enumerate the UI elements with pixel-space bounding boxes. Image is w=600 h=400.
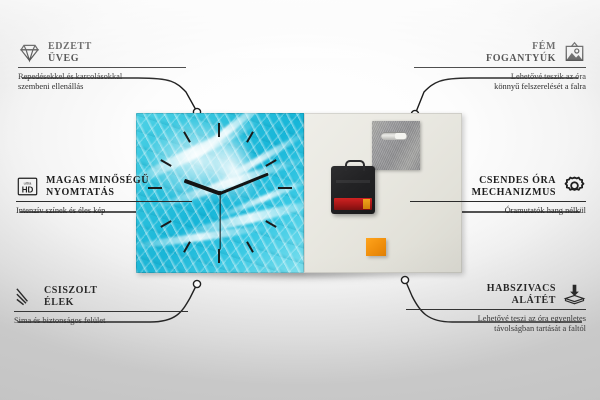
callout-rule [406,309,586,310]
callout-title: FÉM FOGANTYÚK [486,41,556,64]
foam-pad-arrow-icon [563,283,586,306]
callout-metal-handles[interactable]: FÉM FOGANTYÚK Lehetővé teszik az óra kön… [414,41,586,93]
polished-edges-icon [14,285,37,308]
callout-header: EDZETT ÜVEG [18,41,186,64]
callout-header: CSENDES ÓRA MECHANIZMUS [410,175,586,198]
hanger-keyhole-slot [381,132,407,140]
callout-rule [414,67,586,68]
callout-description: Intenzív színek és éles kép [16,206,192,216]
clock-tick [218,249,220,263]
battery [334,198,372,210]
callout-description: Lehetővé teszik az óra könnyű felszerelé… [414,72,586,93]
metal-hanger-part [372,121,420,170]
callout-title: EDZETT ÜVEG [48,41,92,64]
callout-description: Sima és biztonságos felület [14,316,188,326]
clock-second-hand [219,194,220,250]
svg-text:HD: HD [22,185,34,194]
clock-tick [160,220,171,228]
callout-tempered-glass[interactable]: EDZETT ÜVEG Repedésekkel és karcolásokka… [18,41,186,93]
callout-foam-pad[interactable]: HABSZIVACS ALÁTÉT Lehetővé teszi az óra … [406,283,586,335]
mechanism-hanging-lug [345,160,365,171]
clock-tick [218,123,220,137]
mechanism-groove [336,180,370,183]
callout-rule [18,67,186,68]
callout-rule [14,311,188,312]
diamond-icon [18,41,41,64]
clock-tick [278,187,292,189]
callout-title: HABSZIVACS ALÁTÉT [487,283,556,306]
ultra-hd-icon: ultra HD [16,175,39,198]
callout-description: Repedésekkel és karcolásokkal szembeni e… [18,72,186,93]
callout-header: FÉM FOGANTYÚK [414,41,586,64]
callout-description: Óramutatók hang nélkül [410,206,586,216]
callout-header: HABSZIVACS ALÁTÉT [406,283,586,306]
callout-rule [410,201,586,202]
callout-polished-edges[interactable]: CSISZOLT ÉLEK Sima és biztonságos felüle… [14,285,188,326]
callout-title: CSISZOLT ÉLEK [44,285,98,308]
picture-hanger-icon [563,41,586,64]
clock-mechanism-part [331,166,375,214]
callout-silent-mechanism[interactable]: CSENDES ÓRA MECHANIZMUS Óramutatók hang … [410,175,586,216]
foam-pad-part [366,238,386,256]
clock-tick [246,241,254,252]
callout-high-quality-print[interactable]: ultra HD MAGAS MINŐSÉGŰ NYOMTATÁS Intenz… [16,175,192,216]
callout-title: MAGAS MINŐSÉGŰ NYOMTATÁS [46,175,149,198]
gear-icon [563,175,586,198]
callout-title: CSENDES ÓRA MECHANIZMUS [472,175,556,198]
callout-header: ultra HD MAGAS MINŐSÉGŰ NYOMTATÁS [16,175,192,198]
clock-center-hub [218,191,222,195]
callout-rule [16,201,192,202]
infographic-canvas: EDZETT ÜVEG Repedésekkel és karcolásokka… [0,0,600,400]
callout-description: Lehetővé teszi az óra egyenletes távolsá… [406,314,586,335]
callout-header: CSISZOLT ÉLEK [14,285,188,308]
